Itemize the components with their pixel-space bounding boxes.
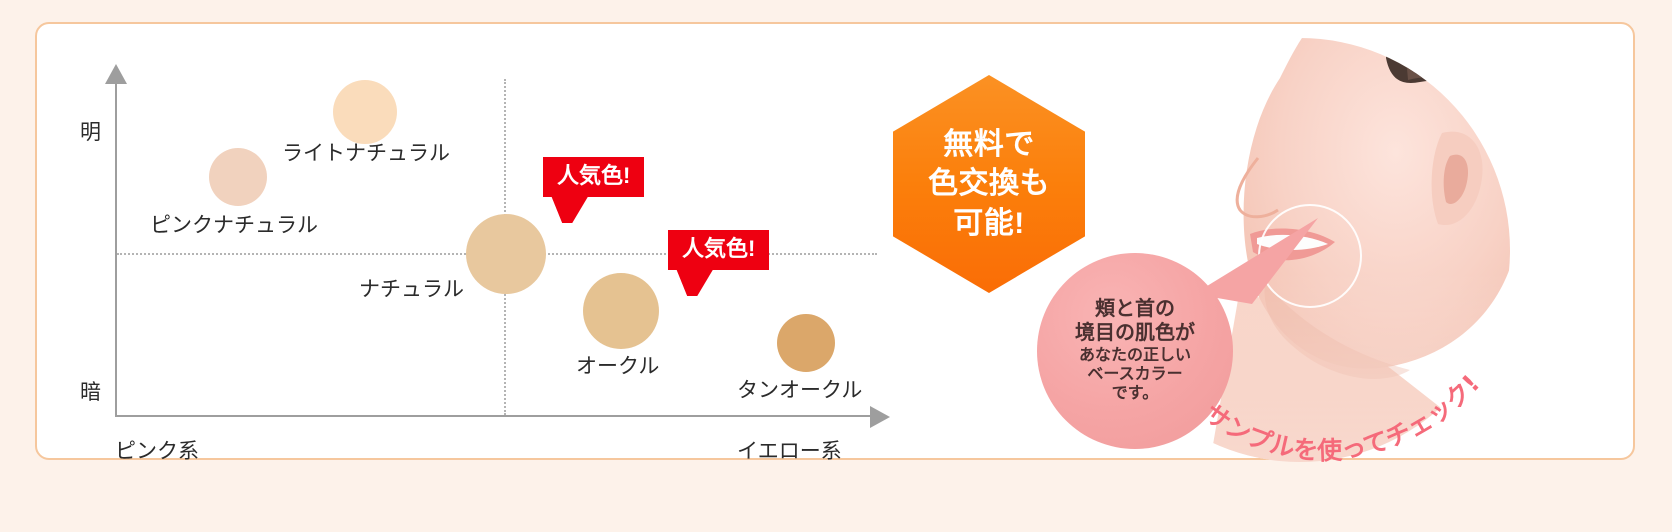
y-axis-line xyxy=(115,82,117,417)
hexagon-line-1: 無料で xyxy=(943,128,1035,161)
swatch-label-ochre: オークル xyxy=(576,350,659,380)
tip-line-5: です。 xyxy=(1075,385,1195,404)
popular-badge-ochre: 人気色! xyxy=(668,230,769,270)
tip-line-3: あなたの正しい xyxy=(1075,347,1195,366)
free-color-exchange-badge-text: 無料で 色交換も 可能! xyxy=(928,125,1050,244)
y-axis-arrow-icon xyxy=(105,64,127,84)
popular-badge-natural: 人気色! xyxy=(543,157,644,197)
hexagon-line-3: 可能! xyxy=(953,207,1025,240)
swatch-dot-ochre[interactable] xyxy=(583,273,659,349)
swatch-label-natural: ナチュラル xyxy=(359,273,464,303)
sample-check-caption-text: サンプルを使ってチェック! xyxy=(1199,369,1485,465)
tip-line-4: ベースカラー xyxy=(1075,366,1195,385)
swatch-dot-tan-ochre[interactable] xyxy=(777,314,835,372)
x-axis-arrow-icon xyxy=(870,406,890,428)
swatch-label-pink-natural: ピンクナチュラル xyxy=(150,209,318,239)
swatch-label-light-natural: ライトナチュラル xyxy=(282,137,450,167)
hexagon-line-2: 色交換も xyxy=(928,167,1050,200)
x-axis-label-pink: ピンク系 xyxy=(115,435,199,465)
swatch-dot-light-natural[interactable] xyxy=(333,80,397,144)
x-axis-line xyxy=(115,415,875,417)
y-axis-label-bright: 明 xyxy=(80,116,101,146)
tip-line-2: 境目の肌色が xyxy=(1075,322,1195,346)
y-axis-label-dark: 暗 xyxy=(80,376,101,406)
page-root: 明 暗 ピンク系 イエロー系 ライトナチュラル ピンクナチュラル ナチュラル オ… xyxy=(0,0,1672,532)
swatch-label-tan-ochre: タンオークル xyxy=(737,374,862,404)
skin-tone-scatter-chart: 明 暗 ピンク系 イエロー系 ライトナチュラル ピンクナチュラル ナチュラル オ… xyxy=(37,24,937,462)
tip-line-1: 頬と首の xyxy=(1075,298,1195,322)
x-axis-label-yellow: イエロー系 xyxy=(737,435,842,465)
skin-tone-chart-panel: 明 暗 ピンク系 イエロー系 ライトナチュラル ピンクナチュラル ナチュラル オ… xyxy=(35,22,1635,460)
swatch-dot-natural[interactable] xyxy=(466,214,546,294)
skin-tone-tip-text: 頬と首の 境目の肌色が あなたの正しい ベースカラー です。 xyxy=(1075,298,1195,404)
swatch-dot-pink-natural[interactable] xyxy=(209,148,267,206)
sample-check-caption: サンプルを使ってチェック! xyxy=(1187,294,1587,484)
